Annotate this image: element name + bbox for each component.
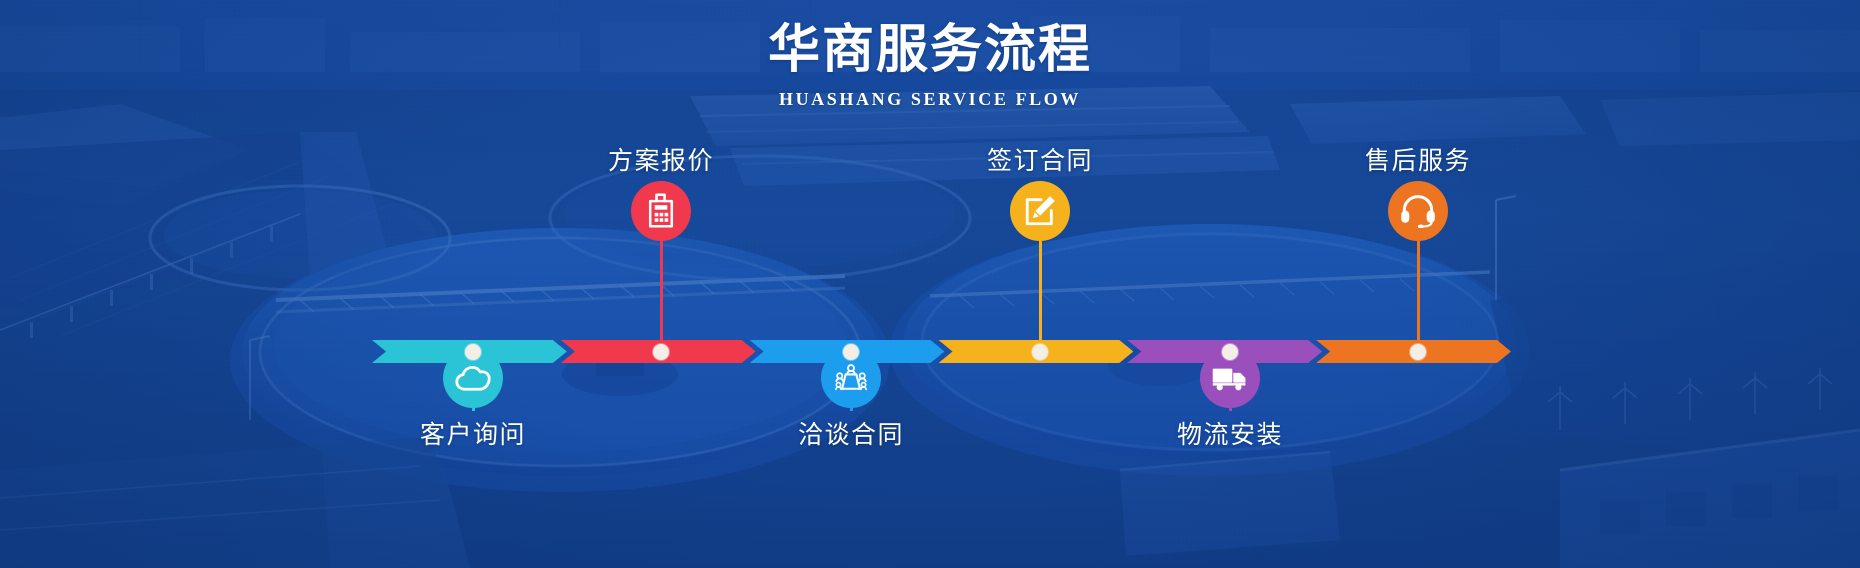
banner-heading: 华商服务流程 HUASHANG SERVICE FLOW — [0, 0, 1860, 110]
flow-step-label-4: 签订合同 — [910, 141, 1170, 177]
flow-node-dot-1 — [465, 344, 481, 360]
flow-connector-stem-2 — [660, 241, 663, 351]
flow-node-dot-2 — [653, 344, 669, 360]
flow-connector-stem-6 — [1417, 241, 1420, 351]
flow-node-dot-4 — [1032, 344, 1048, 360]
page-title: 华商服务流程 — [0, 22, 1860, 78]
sign-pen-icon — [1023, 194, 1057, 228]
cloud-chat-icon — [455, 363, 491, 393]
service-flow-banner: 华商服务流程 HUASHANG SERVICE FLOW 客户询问 方案报价 — [0, 0, 1860, 568]
headset-support-icon — [1400, 194, 1436, 228]
flow-step-label-3: 洽谈合同 — [721, 415, 981, 451]
flow-node-dot-5 — [1222, 344, 1238, 360]
delivery-truck-icon — [1211, 364, 1249, 392]
flow-icon-circle-6[interactable] — [1388, 181, 1448, 241]
flow-step-label-1: 客户询问 — [343, 415, 603, 451]
flow-icon-circle-2[interactable] — [631, 181, 691, 241]
flow-step-label-6: 售后服务 — [1288, 141, 1548, 177]
page-subtitle: HUASHANG SERVICE FLOW — [0, 89, 1860, 110]
flow-node-dot-3 — [843, 344, 859, 360]
flow-node-dot-6 — [1410, 344, 1426, 360]
flow-step-label-5: 物流安装 — [1100, 415, 1360, 451]
calculator-document-icon — [646, 193, 676, 229]
flow-step-label-2: 方案报价 — [531, 141, 791, 177]
meeting-table-icon — [834, 362, 868, 394]
flow-icon-circle-4[interactable] — [1010, 181, 1070, 241]
flow-connector-stem-4 — [1039, 241, 1042, 351]
